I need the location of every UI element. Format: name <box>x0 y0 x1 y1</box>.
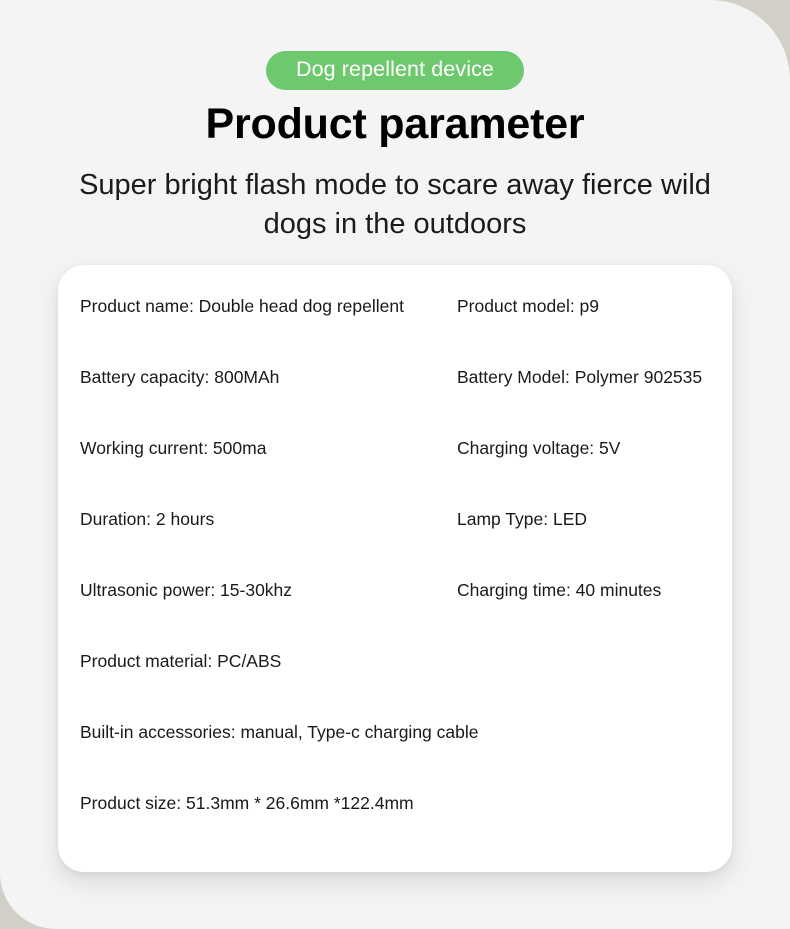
spec-cell-left: Battery capacity: 800MAh <box>80 367 279 388</box>
badge-row: Dog repellent device <box>0 51 790 90</box>
table-row: Working current: 500maCharging voltage: … <box>58 438 732 509</box>
spec-cell-right: Battery Model: Polymer 902535 <box>457 367 702 388</box>
spec-cell-left: Product size: 51.3mm * 26.6mm *122.4mm <box>80 793 414 814</box>
spec-cell-right: Charging voltage: 5V <box>457 438 620 459</box>
page-sheet: Dog repellent device Product parameter S… <box>0 0 790 929</box>
spec-cell-left: Product material: PC/ABS <box>80 651 281 672</box>
table-row: Product size: 51.3mm * 26.6mm *122.4mm <box>58 793 732 864</box>
table-row: Product name: Double head dog repellentP… <box>58 296 732 367</box>
spec-card: Product name: Double head dog repellentP… <box>58 265 732 872</box>
spec-cell-left: Built-in accessories: manual, Type-c cha… <box>80 722 478 743</box>
table-row: Ultrasonic power: 15-30khzCharging time:… <box>58 580 732 651</box>
page-subtitle: Super bright flash mode to scare away fi… <box>60 166 730 243</box>
table-row: Battery capacity: 800MAhBattery Model: P… <box>58 367 732 438</box>
category-badge: Dog repellent device <box>266 51 524 90</box>
spec-cell-right: Lamp Type: LED <box>457 509 587 530</box>
spec-cell-left: Working current: 500ma <box>80 438 266 459</box>
table-row: Product material: PC/ABS <box>58 651 732 722</box>
table-row: Duration: 2 hoursLamp Type: LED <box>58 509 732 580</box>
spec-cell-right: Product model: p9 <box>457 296 599 317</box>
spec-table: Product name: Double head dog repellentP… <box>58 296 732 864</box>
spec-cell-left: Ultrasonic power: 15-30khz <box>80 580 292 601</box>
spec-cell-left: Duration: 2 hours <box>80 509 214 530</box>
product-parameter-infographic: Dog repellent device Product parameter S… <box>0 0 790 929</box>
spec-cell-right: Charging time: 40 minutes <box>457 580 661 601</box>
table-row: Built-in accessories: manual, Type-c cha… <box>58 722 732 793</box>
spec-cell-left: Product name: Double head dog repellent <box>80 296 404 317</box>
page-title: Product parameter <box>0 100 790 149</box>
